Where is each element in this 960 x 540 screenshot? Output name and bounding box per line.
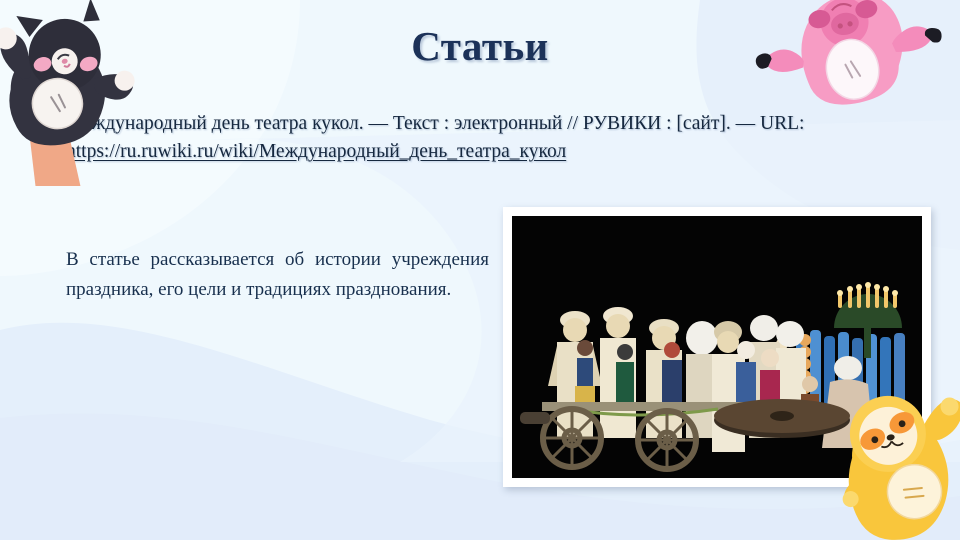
citation-block: Международный день театра кукол. — Текст… xyxy=(66,110,856,167)
black-cat-puppet-icon xyxy=(0,0,142,186)
pink-pig-puppet-icon xyxy=(752,0,942,111)
background-prop xyxy=(520,412,550,424)
body-paragraph: В статье рассказывается об истории учреж… xyxy=(66,245,489,305)
yellow-bear-puppet-icon xyxy=(836,382,960,540)
presentation-slide: Статьи Международный день театра кукол. … xyxy=(0,0,960,540)
citation-text: Международный день театра кукол. — Текст… xyxy=(66,113,804,134)
table-wheel xyxy=(714,399,850,438)
